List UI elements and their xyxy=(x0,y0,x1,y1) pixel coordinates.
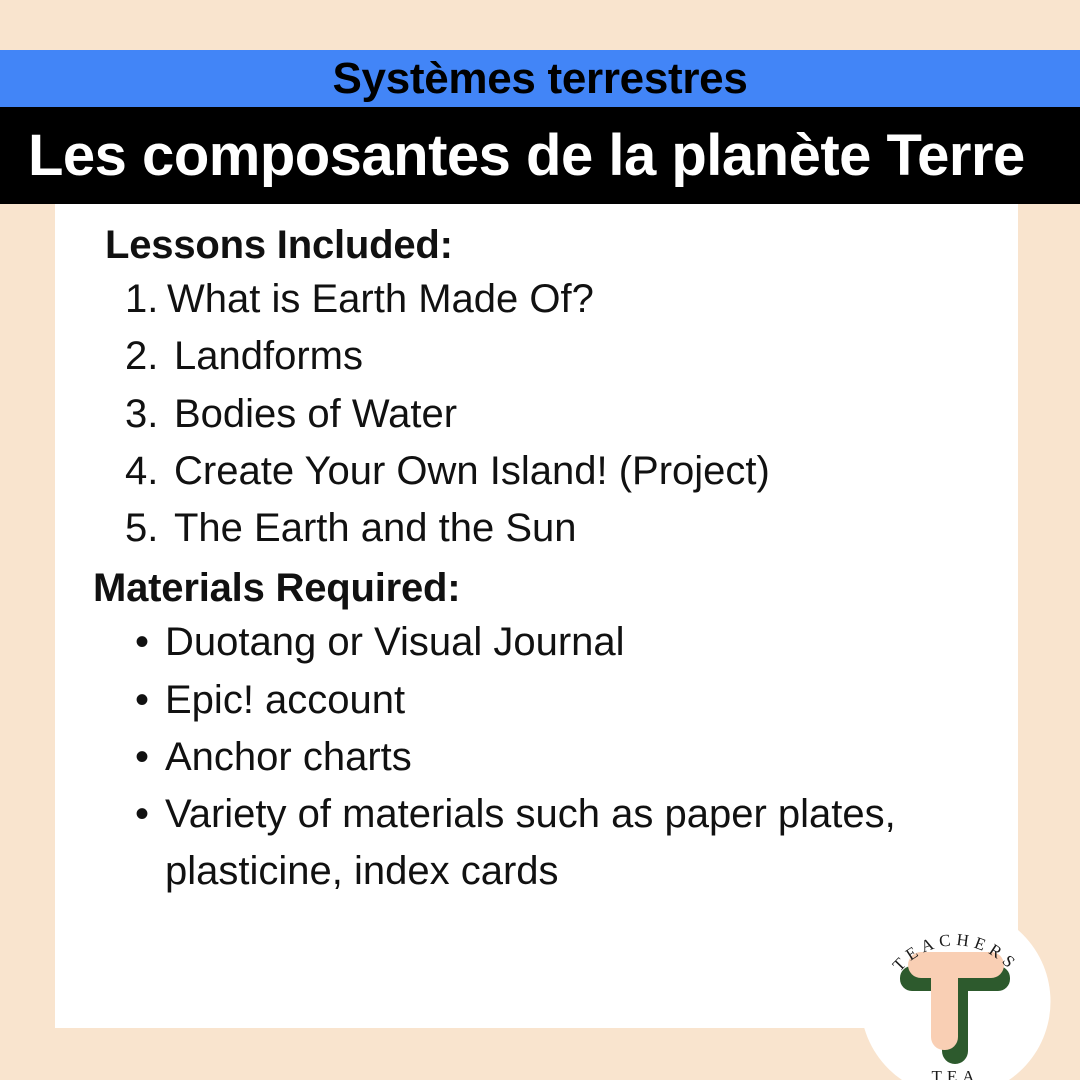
material-label: Anchor charts xyxy=(165,729,973,786)
lessons-heading: Lessons Included: xyxy=(55,222,1018,269)
lesson-label: Create Your Own Island! (Project) xyxy=(174,443,1018,500)
lessons-list: 1. What is Earth Made Of? 2. Landforms 3… xyxy=(55,271,1018,557)
lesson-label: The Earth and the Sun xyxy=(174,500,1018,557)
list-item: 3. Bodies of Water xyxy=(55,386,1018,443)
list-item: 2. Landforms xyxy=(55,328,1018,385)
poster-canvas: Systèmes terrestres Les composantes de l… xyxy=(0,0,1080,1080)
list-item: 5. The Earth and the Sun xyxy=(55,500,1018,557)
lesson-label: Landforms xyxy=(174,328,1018,385)
page-title: Les composantes de la planète Terre xyxy=(28,127,1025,185)
title-band: Les composantes de la planète Terre xyxy=(0,107,1080,204)
logo-bottom-text: TEA xyxy=(931,1067,979,1080)
lesson-number: 3. xyxy=(125,386,174,443)
bullet-icon: • xyxy=(135,614,165,671)
bullet-icon: • xyxy=(135,672,165,729)
list-item: • Duotang or Visual Journal xyxy=(55,614,1018,671)
lesson-number: 2. xyxy=(125,328,174,385)
bullet-icon: • xyxy=(135,786,165,843)
materials-heading: Materials Required: xyxy=(55,557,1018,612)
lesson-number: 4. xyxy=(125,443,174,500)
bullet-icon: • xyxy=(135,729,165,786)
lesson-label: What is Earth Made Of? xyxy=(167,271,1018,328)
list-item: • Epic! account xyxy=(55,672,1018,729)
subject-band: Systèmes terrestres xyxy=(0,50,1080,107)
lesson-number: 1. xyxy=(125,271,167,328)
material-label: Variety of materials such as paper plate… xyxy=(165,786,973,900)
list-item: 1. What is Earth Made Of? xyxy=(55,271,1018,328)
list-item: • Anchor charts xyxy=(55,729,1018,786)
materials-list: • Duotang or Visual Journal • Epic! acco… xyxy=(55,614,1018,900)
lesson-number: 5. xyxy=(125,500,174,557)
logo-badge-icon: TEACHERS TEA xyxy=(858,904,1053,1080)
list-item: 4. Create Your Own Island! (Project) xyxy=(55,443,1018,500)
material-label: Duotang or Visual Journal xyxy=(165,614,973,671)
subject-band-title: Systèmes terrestres xyxy=(332,57,747,101)
lesson-label: Bodies of Water xyxy=(174,386,1018,443)
material-label: Epic! account xyxy=(165,672,973,729)
teachers-tea-logo: TEACHERS TEA xyxy=(858,904,1053,1080)
list-item: • Variety of materials such as paper pla… xyxy=(55,786,1018,900)
content-body: Lessons Included: 1. What is Earth Made … xyxy=(55,204,1018,900)
